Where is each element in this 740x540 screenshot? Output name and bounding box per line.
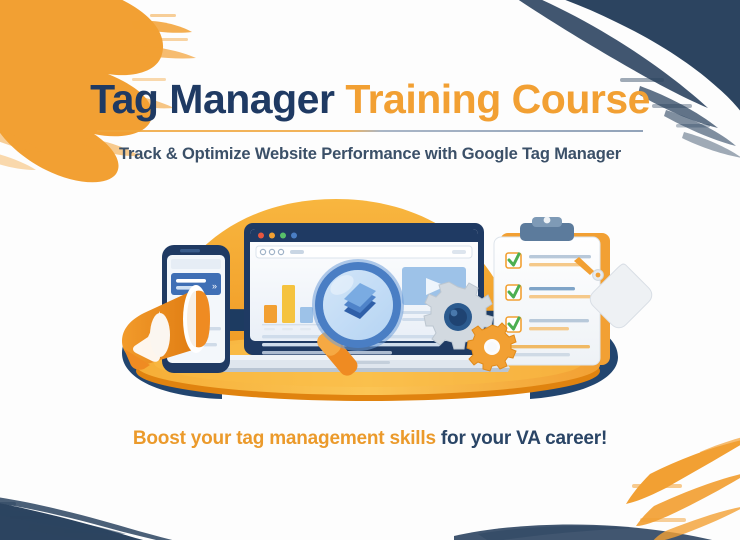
page-title: Tag Manager Training Course: [0, 78, 740, 121]
poster-canvas: Tag Manager Training Course Track & Opti…: [0, 0, 740, 540]
tagline: Boost your tag management skills for you…: [0, 428, 740, 450]
tagline-main: for your VA career!: [441, 428, 607, 449]
page-subtitle: Track & Optimize Website Performance wit…: [0, 145, 740, 164]
browser-dot-green: [280, 233, 286, 239]
browser-dot-orange: [269, 233, 275, 239]
title-divider: [97, 130, 643, 132]
tagline-accent: Boost your tag management skills: [133, 428, 436, 449]
header-block: Tag Manager Training Course Track & Opti…: [0, 78, 740, 164]
browser-dot-blue: [291, 233, 297, 239]
brush-stroke-bottom-left-icon: [0, 442, 270, 540]
browser-dot-red: [258, 233, 264, 239]
page-title-accent: Training Course: [345, 76, 650, 122]
svg-text:»: »: [212, 281, 217, 291]
tag-manager-hero-illustration: »: [100, 185, 660, 410]
page-title-main: Tag Manager: [90, 76, 334, 122]
